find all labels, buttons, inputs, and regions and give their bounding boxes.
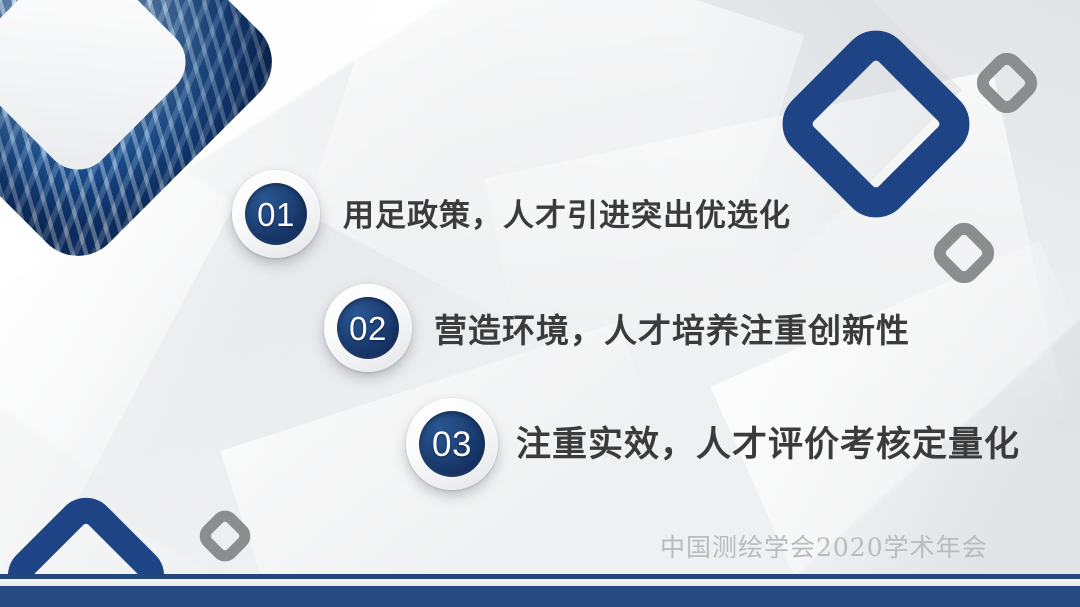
gray-diamond-mid-right-icon (927, 216, 1001, 290)
navy-diamond-large-icon (769, 17, 984, 232)
bottom-rule-gap (0, 579, 1080, 586)
number-badge-03[interactable]: 03 (406, 398, 498, 490)
gray-diamond-upper-right-icon (970, 46, 1044, 120)
badge-number-label: 01 (257, 198, 295, 231)
background-facet (78, 182, 583, 607)
bullet-text-03: 注重实效，人才评价考核定量化 (516, 416, 1020, 467)
badge-disc: 03 (419, 411, 485, 477)
number-badge-01[interactable]: 01 (232, 170, 320, 258)
badge-disc: 02 (337, 297, 399, 359)
gray-diamond-bottom-left-icon (194, 505, 256, 567)
number-badge-02[interactable]: 02 (324, 284, 412, 372)
slide-footer-text: 中国测绘学会2020学术年会 (660, 528, 988, 564)
presentation-slide: 01 用足政策，人才引进突出优选化 02 营造环境，人才培养注重创新性 03 注… (0, 0, 1080, 607)
badge-number-label: 03 (432, 427, 472, 462)
badge-disc: 01 (245, 183, 307, 245)
bullet-text-02: 营造环境，人才培养注重创新性 (434, 304, 910, 352)
bullet-text-01: 用足政策，人才引进突出优选化 (343, 190, 791, 235)
badge-number-label: 02 (349, 312, 387, 345)
bottom-rule-bar (0, 586, 1080, 607)
